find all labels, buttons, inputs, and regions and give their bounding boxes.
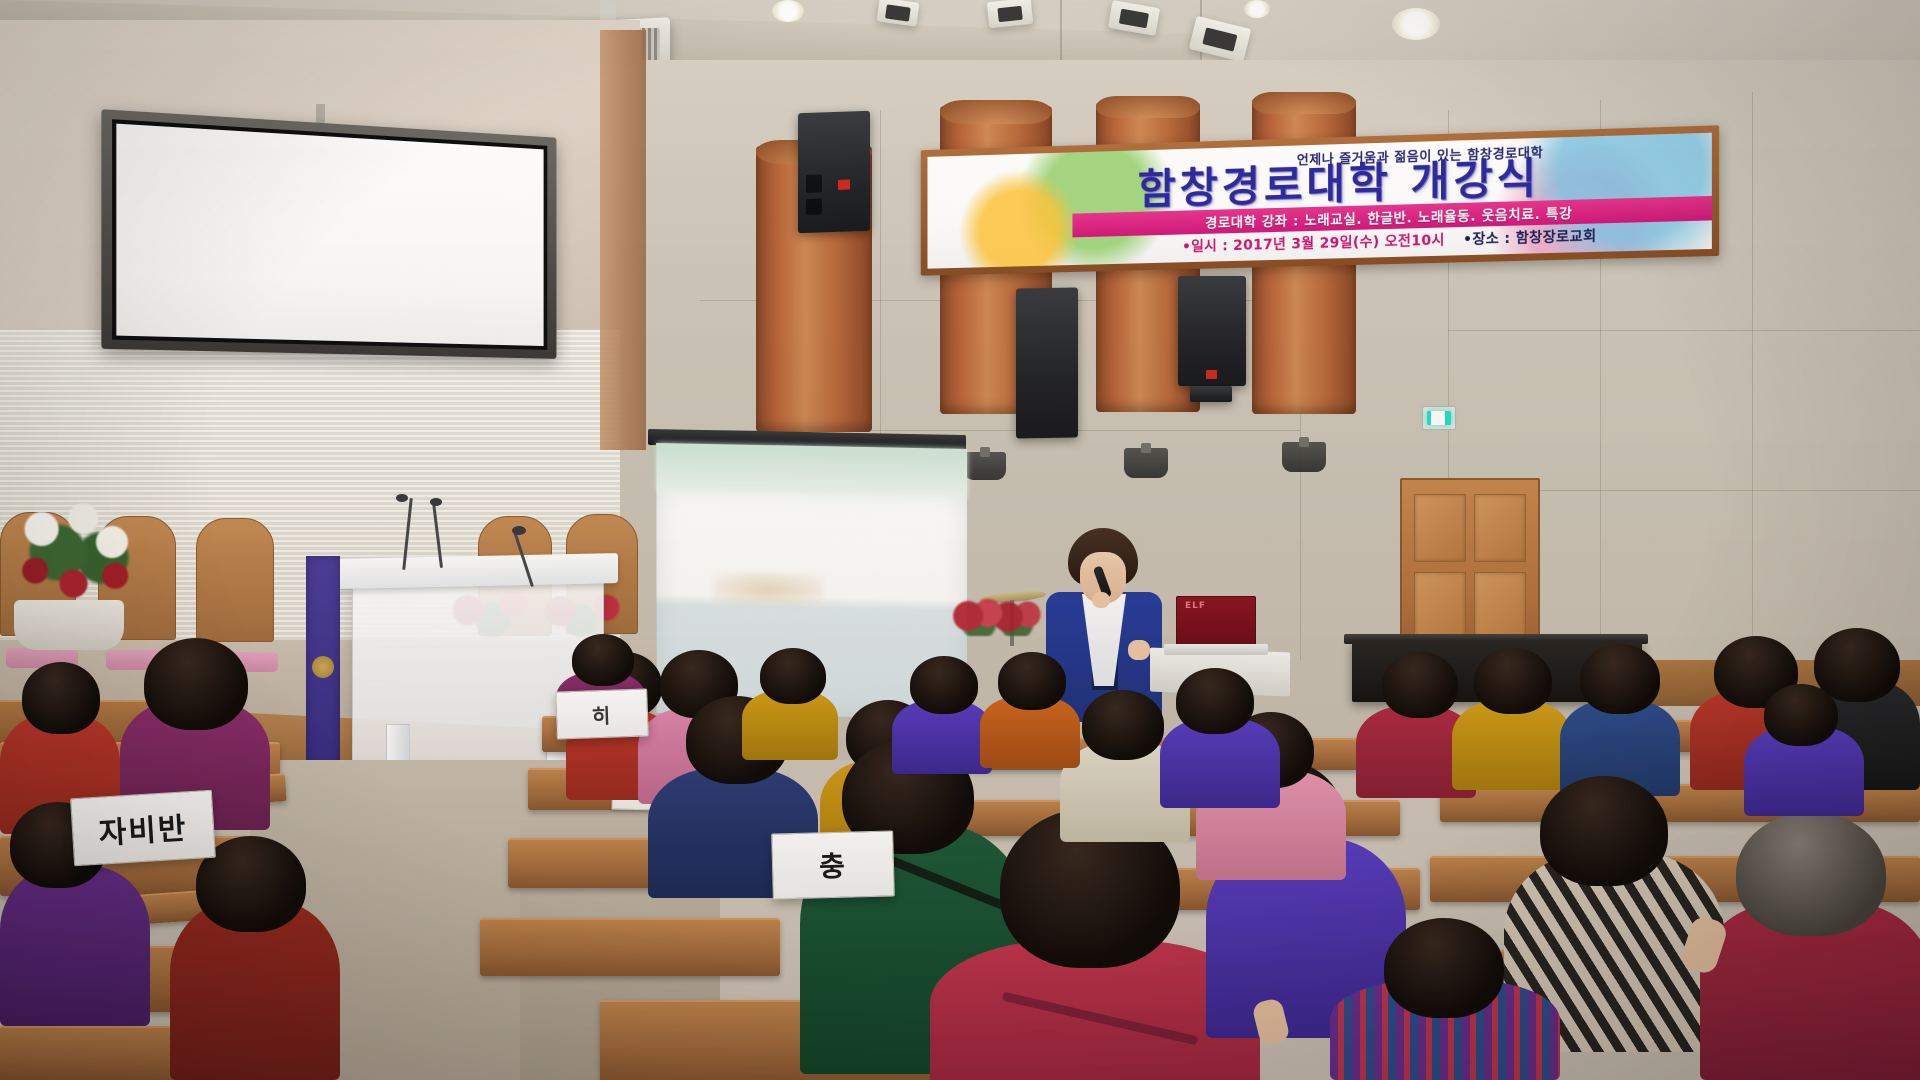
banner-date: •일시 : 2017년 3월 29일(수) 오전10시 bbox=[1182, 229, 1445, 256]
wall-sconce bbox=[964, 452, 1006, 480]
audience-head bbox=[572, 634, 634, 686]
presenter-hand bbox=[1128, 640, 1150, 660]
wall-display-bezel bbox=[112, 119, 547, 350]
ceiling-light bbox=[772, 0, 804, 22]
microphone-head bbox=[430, 498, 442, 506]
banner-frame: 언제나 즐거움과 젊음이 있는 함창경로대학 함창경로대학 개강식 경로대학 강… bbox=[921, 125, 1719, 275]
pulpit-banner bbox=[306, 556, 340, 766]
audience-head bbox=[1814, 628, 1900, 702]
flower-vase bbox=[14, 600, 124, 650]
event-banner: 언제나 즐거움과 젊음이 있는 함창경로대학 함창경로대학 개강식 경로대학 강… bbox=[921, 125, 1719, 275]
laptop-brand-label: ELF bbox=[1185, 601, 1206, 611]
microphone-head bbox=[512, 526, 526, 535]
audience-head bbox=[1382, 652, 1458, 718]
wall-pilaster bbox=[600, 30, 646, 450]
audience-head bbox=[1580, 644, 1660, 714]
audience-person bbox=[0, 866, 150, 1026]
class-sign-far-label: 히 bbox=[591, 699, 612, 729]
wall-panel-seam bbox=[1752, 92, 1753, 672]
stage-flowers bbox=[952, 596, 1042, 636]
pa-speaker bbox=[798, 111, 870, 234]
presenter-hand bbox=[1092, 592, 1110, 608]
audience-head bbox=[1384, 918, 1504, 1018]
projected-image-subject bbox=[713, 572, 823, 606]
pulpit-top bbox=[336, 553, 618, 589]
audience-head bbox=[144, 638, 248, 730]
audience-head bbox=[22, 662, 100, 734]
pa-speaker bbox=[1016, 287, 1078, 438]
audience-head bbox=[1736, 812, 1886, 936]
audience-head bbox=[1540, 776, 1668, 886]
wall-sconce bbox=[1124, 448, 1168, 478]
wood-column-cap bbox=[1252, 92, 1356, 114]
audience-head bbox=[1764, 684, 1838, 746]
speaker-bracket bbox=[1190, 386, 1232, 402]
laptop: ELF bbox=[1176, 596, 1256, 648]
audience-head bbox=[1082, 690, 1164, 760]
chancel-chair bbox=[196, 518, 274, 642]
class-sign-left: 자비반 bbox=[70, 790, 216, 867]
microphone-head bbox=[396, 494, 408, 502]
class-sign-far: 히 bbox=[555, 688, 649, 739]
pew[interactable] bbox=[480, 918, 780, 976]
class-sign-left-label: 자비반 bbox=[97, 803, 188, 852]
projected-image-sky bbox=[657, 443, 967, 497]
emergency-exit-sign bbox=[1422, 406, 1456, 430]
exit-icon bbox=[1427, 411, 1451, 425]
laptop-base bbox=[1164, 644, 1268, 655]
wall-display-screen bbox=[116, 124, 543, 346]
banner-face: 언제나 즐거움과 젊음이 있는 함창경로대학 함창경로대학 개강식 경로대학 강… bbox=[927, 133, 1711, 269]
ceiling-light bbox=[1392, 8, 1440, 40]
photograph-scene: 언제나 즐거움과 젊음이 있는 함창경로대학 함창경로대학 개강식 경로대학 강… bbox=[0, 0, 1920, 1080]
banner-place: •장소 : 함창장로교회 bbox=[1463, 225, 1596, 249]
spotlight bbox=[987, 0, 1033, 28]
class-sign-center: 충 bbox=[771, 830, 895, 899]
audience-head bbox=[998, 652, 1066, 710]
audience-head bbox=[910, 656, 978, 714]
audience-head bbox=[1474, 648, 1552, 714]
wall-panel-seam bbox=[880, 110, 881, 440]
audience-head bbox=[760, 648, 826, 704]
wall-display-frame bbox=[101, 109, 556, 359]
ceiling-light bbox=[1244, 0, 1270, 18]
pa-speaker bbox=[1178, 276, 1246, 386]
class-sign-center-label: 충 bbox=[819, 845, 848, 886]
wall-panel-seam bbox=[1448, 330, 1920, 331]
wood-column-cap bbox=[1096, 96, 1200, 118]
audience-head bbox=[1176, 668, 1254, 734]
wood-column-cap bbox=[940, 100, 1052, 124]
wall-sconce bbox=[1282, 442, 1326, 472]
